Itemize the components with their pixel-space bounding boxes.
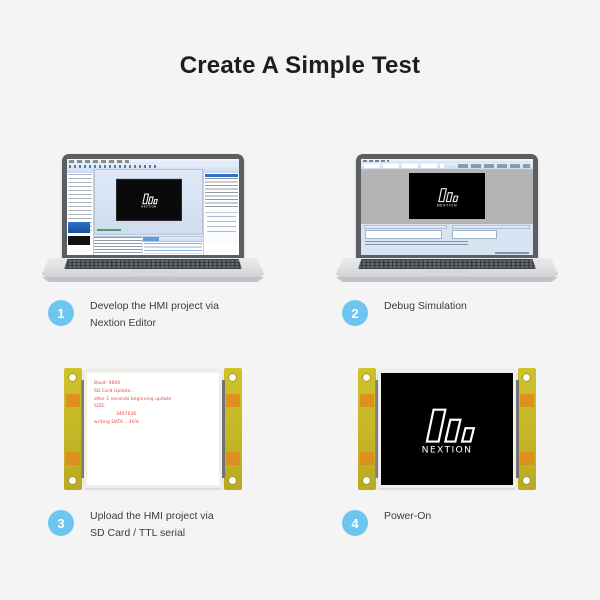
editor-property-panel (205, 212, 238, 245)
board-lcd-bezel: NEXTION (378, 370, 516, 488)
board-copper-pad (226, 394, 240, 407)
editor-bottom-panel (94, 236, 203, 255)
step-caption-2: 2 Debug Simulation (342, 298, 467, 326)
editor-event-tabs (142, 237, 203, 242)
sd-update-log-line: 3407036 (94, 411, 215, 419)
step-text-4: Power-On (384, 508, 431, 525)
laptop-base (40, 258, 266, 284)
laptop-device: NEXTION (334, 154, 560, 284)
step-text-line-1: Power-On (384, 508, 431, 525)
laptop-base (334, 258, 560, 284)
simulator-return-panel-header (452, 225, 530, 229)
sd-update-log-line: Baud: 9600 (94, 380, 215, 388)
step-caption-3: 3 Upload the HMI project via SD Card / T… (48, 508, 214, 542)
step-text-2: Debug Simulation (384, 298, 467, 315)
board-pcb-left-edge (64, 368, 82, 490)
board-pcb-left-edge (358, 368, 376, 490)
editor-picture-thumb-2 (68, 236, 90, 245)
board-lcd-screen: NEXTION (381, 373, 513, 485)
step-number-badge-4: 4 (342, 510, 368, 536)
nextion-editor-window: NEXTION (67, 159, 239, 255)
simulator-option-checkboxes[interactable] (365, 241, 468, 247)
editor-page-panel-header (204, 169, 239, 173)
editor-code-lines (144, 243, 202, 254)
board-copper-pad (520, 394, 534, 407)
editor-event-list (94, 237, 143, 255)
laptop-nextion-editor-illustration: NEXTION (18, 150, 288, 285)
page-title: Create A Simple Test (0, 52, 600, 80)
step-text-line-1: Debug Simulation (384, 298, 467, 315)
simulator-command-input[interactable] (365, 230, 442, 239)
simulator-display-preview: NEXTION (409, 173, 485, 219)
nextion-board-logo-illustration: NEXTION (312, 360, 582, 495)
editor-selected-page-row (205, 174, 238, 177)
mounting-hole-icon (68, 373, 77, 382)
step-text-1: Develop the HMI project via Nextion Edit… (90, 298, 219, 332)
simulator-return-output (452, 230, 497, 239)
keyboard-row (358, 260, 536, 262)
simulator-io-panels (361, 223, 533, 255)
step-number-badge-3: 3 (48, 510, 74, 536)
nextion-logo-icon: NEXTION (430, 186, 464, 207)
laptop-trackpad (425, 270, 469, 275)
editor-page-preview: NEXTION (116, 179, 182, 221)
debug-simulator-window: NEXTION (361, 159, 533, 255)
simulator-toolbar (361, 163, 533, 170)
laptop-keyboard (358, 259, 536, 269)
editor-canvas-hint (97, 229, 121, 231)
editor-property-rows (207, 216, 236, 236)
keyboard-row (358, 263, 536, 265)
board-copper-pad (520, 452, 534, 465)
nextion-logo-icon: NEXTION (405, 403, 489, 455)
mounting-hole-icon (362, 476, 371, 485)
board-lcd-screen: Baud: 9600 SD Card Update... after 1 sec… (87, 373, 219, 485)
nextion-board-sd-update-illustration: Baud: 9600 SD Card Update... after 1 sec… (18, 360, 288, 495)
sd-update-log-line: SIZE: (94, 403, 215, 411)
board-copper-pad (226, 452, 240, 465)
mounting-hole-icon (68, 476, 77, 485)
laptop-lid: NEXTION (62, 154, 244, 262)
step-text-line-2: Nextion Editor (90, 315, 219, 332)
laptop-trackpad (131, 270, 175, 275)
nextion-logo-icon: NEXTION (136, 192, 162, 208)
laptop-device: NEXTION (40, 154, 266, 284)
editor-left-panel (67, 169, 94, 255)
mounting-hole-icon (522, 476, 531, 485)
editor-menu-items (69, 160, 129, 163)
laptop-screen: NEXTION (361, 159, 533, 255)
step-cell-4: NEXTION 4 Power-On (312, 360, 582, 560)
editor-attribute-list (205, 178, 238, 208)
board-copper-pad (360, 452, 374, 465)
nextion-display-board: Baud: 9600 SD Card Update... after 1 sec… (64, 368, 242, 490)
simulator-toolbar-buttons (364, 164, 444, 168)
sd-update-log-line: writing DATA... 46% (94, 419, 215, 427)
editor-active-tab (143, 237, 159, 241)
mounting-hole-icon (522, 373, 531, 382)
simulator-window-title (363, 160, 389, 162)
laptop-screen: NEXTION (67, 159, 239, 255)
step-text-line-1: Develop the HMI project via (90, 298, 219, 315)
editor-canvas: NEXTION (94, 169, 203, 235)
editor-code-area (142, 237, 203, 255)
laptop-lid: NEXTION (356, 154, 538, 262)
step-text-3: Upload the HMI project via SD Card / TTL… (90, 508, 214, 542)
keyboard-row (64, 263, 242, 265)
sd-update-log-line: SD Card Update... (94, 388, 215, 396)
step-number-badge-2: 2 (342, 300, 368, 326)
laptop-base-front (42, 277, 264, 282)
simulator-toolbar-options (458, 164, 530, 168)
simulator-stage: NEXTION (366, 171, 528, 221)
editor-right-panel (203, 169, 239, 255)
board-pcb-right-edge (518, 368, 536, 490)
laptop-keyboard (64, 259, 242, 269)
svg-text:NEXTION: NEXTION (141, 204, 156, 208)
board-pcb-right-edge (224, 368, 242, 490)
mounting-hole-icon (228, 476, 237, 485)
svg-text:NEXTION: NEXTION (437, 203, 457, 207)
poster-page: Create A Simple Test (0, 0, 600, 600)
board-copper-pad (66, 394, 80, 407)
editor-toolbox-header (67, 169, 93, 173)
svg-text:NEXTION: NEXTION (422, 444, 473, 455)
sd-update-log: Baud: 9600 SD Card Update... after 1 sec… (94, 380, 215, 427)
editor-picture-thumb-1 (68, 222, 90, 233)
step-text-line-2: SD Card / TTL serial (90, 525, 214, 542)
laptop-debug-simulator-illustration: NEXTION (312, 150, 582, 285)
step-number-badge-1: 1 (48, 300, 74, 326)
step-cell-2: NEXTION (312, 150, 582, 360)
laptop-base-front (336, 277, 558, 282)
board-copper-pad (360, 394, 374, 407)
keyboard-row (64, 266, 242, 268)
mounting-hole-icon (228, 373, 237, 382)
simulator-status-text (495, 252, 529, 254)
sd-update-log-line: after 1 seconds beginning update (94, 396, 215, 404)
board-lcd-bezel: Baud: 9600 SD Card Update... after 1 sec… (84, 370, 222, 488)
mounting-hole-icon (362, 373, 371, 382)
step-caption-1: 1 Develop the HMI project via Nextion Ed… (48, 298, 219, 332)
nextion-display-board: NEXTION (358, 368, 536, 490)
step-text-line-1: Upload the HMI project via (90, 508, 214, 525)
simulator-instruction-panel-header (364, 225, 447, 229)
board-copper-pad (66, 452, 80, 465)
step-caption-4: 4 Power-On (342, 508, 431, 536)
keyboard-row (358, 266, 536, 268)
step-cell-1: NEXTION (18, 150, 288, 360)
editor-toolbar-icons (69, 165, 159, 168)
keyboard-row (64, 260, 242, 262)
step-cell-3: Baud: 9600 SD Card Update... after 1 sec… (18, 360, 288, 560)
